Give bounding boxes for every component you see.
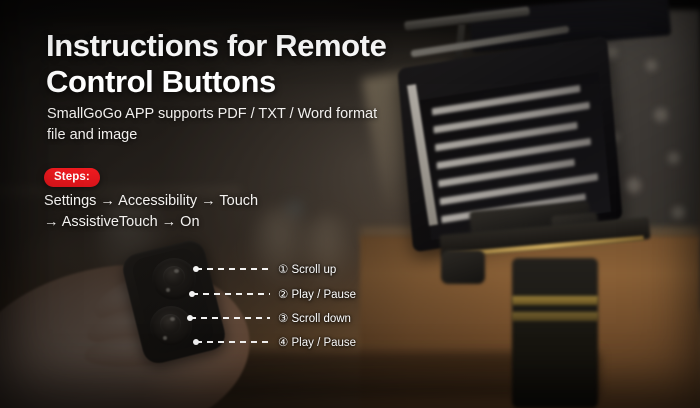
callout-1: ① Scroll up (196, 261, 336, 277)
title-line-2: Control Buttons (46, 64, 446, 100)
callout-2: ② Play / Pause (192, 286, 356, 302)
steps-line-2: → AssistiveTouch → On (44, 212, 384, 233)
tripod-collar-ring (512, 312, 598, 321)
wall-bokeh-dot (668, 152, 680, 164)
wall-bokeh-dot (672, 206, 685, 219)
tripod-collar-ring (512, 296, 598, 305)
button-highlight (174, 269, 179, 273)
leader-line (196, 268, 270, 270)
subtitle: SmallGoGo APP supports PDF / TXT / Word … (47, 104, 397, 145)
subtitle-line-2: file and image (47, 125, 397, 146)
steps-instructions: Settings → Accessibility → Touch → Assis… (44, 191, 384, 233)
leader-line (196, 341, 270, 343)
leader-line (192, 293, 270, 295)
button-highlight (170, 317, 175, 321)
button-highlight (166, 288, 170, 292)
wall-bokeh-dot (654, 108, 668, 122)
callout-2-label: ② Play / Pause (278, 287, 356, 301)
callout-3-label: ③ Scroll down (278, 311, 351, 325)
subtitle-line-1: SmallGoGo APP supports PDF / TXT / Word … (47, 104, 397, 125)
steps-line-1: Settings → Accessibility → Touch (44, 191, 384, 212)
wall-bokeh-dot (646, 60, 657, 71)
button-highlight (163, 336, 167, 340)
leader-line (190, 317, 270, 319)
steps-badge: Steps: (44, 168, 100, 187)
tripod-lock-lever (441, 250, 485, 284)
title-line-1: Instructions for Remote (46, 28, 446, 64)
callout-1-label: ① Scroll up (278, 262, 336, 276)
page-title: Instructions for Remote Control Buttons (46, 28, 446, 101)
callout-4-label: ④ Play / Pause (278, 335, 356, 349)
callout-4: ④ Play / Pause (196, 334, 356, 350)
callout-3: ③ Scroll down (190, 310, 351, 326)
tripod-column (512, 258, 598, 408)
promo-image-canvas: Instructions for Remote Control Buttons … (0, 0, 700, 408)
wall-bokeh-dot (626, 178, 641, 193)
